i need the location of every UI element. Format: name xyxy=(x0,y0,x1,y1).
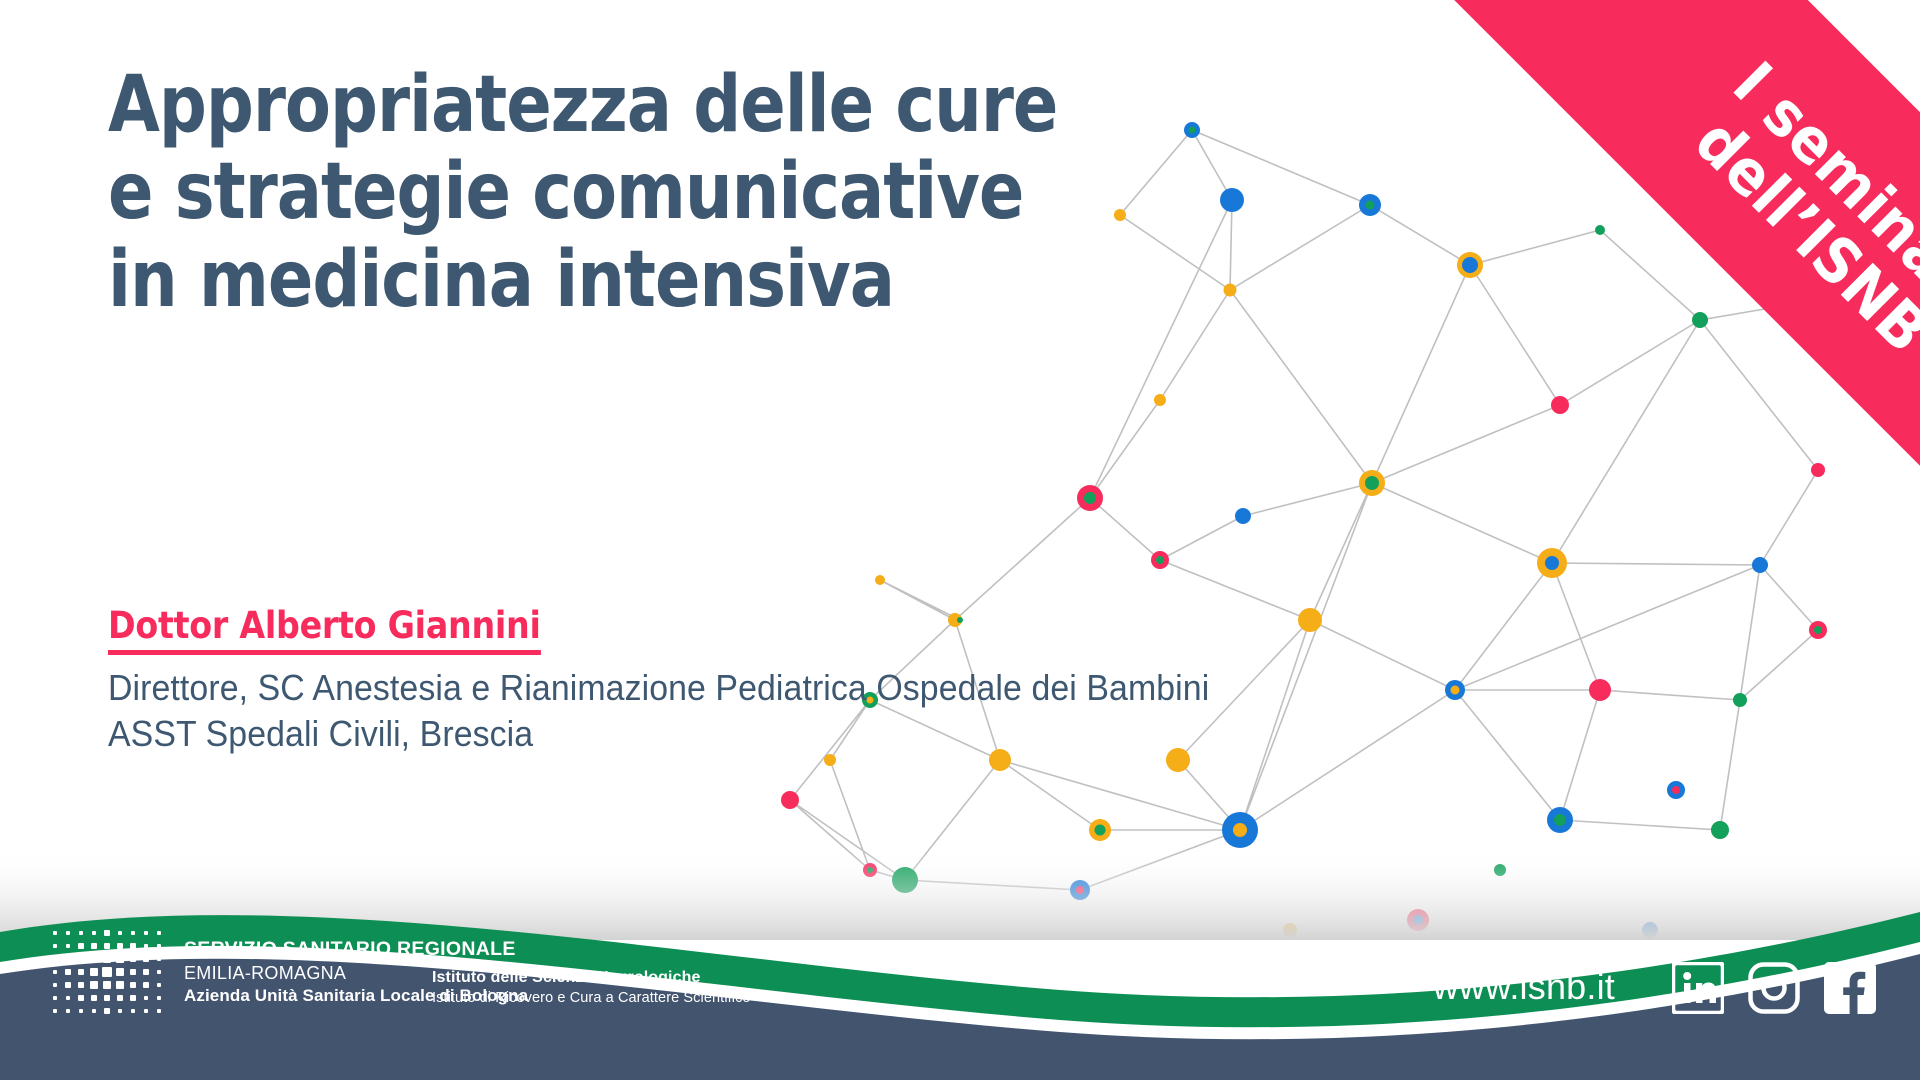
asl-line-1: SERVIZIO SANITARIO REGIONALE xyxy=(184,937,528,962)
speaker-affiliation-line: Direttore, SC Anestesia e Rianimazione P… xyxy=(108,665,1537,711)
instagram-icon[interactable] xyxy=(1748,962,1800,1014)
website-url[interactable]: www.isnb.it xyxy=(1433,966,1615,1008)
social-links xyxy=(1672,962,1876,1014)
slide-canvas: Appropriatezza delle cure e strategie co… xyxy=(0,0,1920,1080)
institute-line-2: Istituto di Ricovero e Cura a Carattere … xyxy=(432,989,751,1008)
dot-grid-logo-icon xyxy=(50,928,164,1016)
speaker-block: Dottor Alberto Giannini Direttore, SC An… xyxy=(108,606,1628,757)
facebook-icon[interactable] xyxy=(1824,962,1876,1014)
speaker-affiliation-line: ASST Spedali Civili, Brescia xyxy=(108,711,1537,757)
page-title: Appropriatezza delle cure e strategie co… xyxy=(108,62,1243,324)
speaker-name: Dottor Alberto Giannini xyxy=(108,606,541,655)
speaker-affiliation: Direttore, SC Anestesia e Rianimazione P… xyxy=(108,665,1628,757)
linkedin-icon[interactable] xyxy=(1672,962,1724,1014)
institute-line-1: Istituto delle Scienze Neurologiche xyxy=(432,968,751,989)
institute-name: Istituto delle Scienze Neurologiche Isti… xyxy=(432,968,751,1008)
